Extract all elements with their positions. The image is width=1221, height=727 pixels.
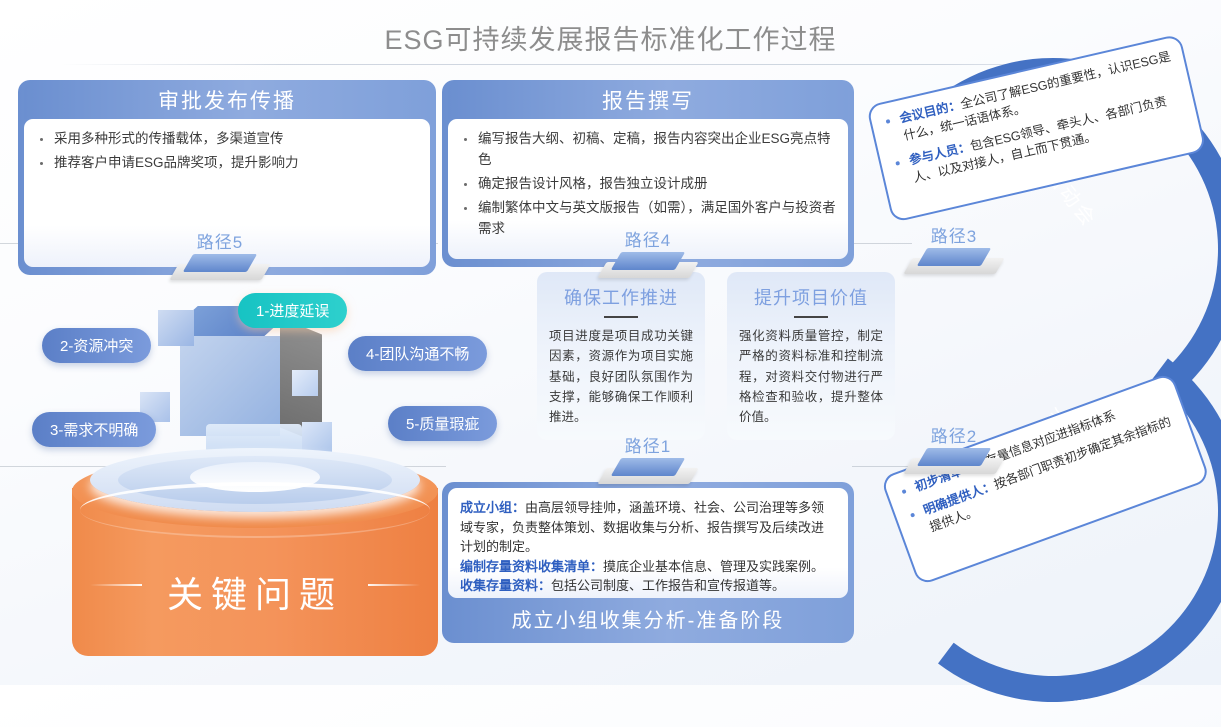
cylinder-highlight-ring [80,482,430,538]
panel-report-header: 报告撰写 [448,80,848,119]
path-label-3: 路径3 [898,222,1010,247]
panel-prep-body: 成立小组：由高层领导挂帅，涵盖环境、社会、公司治理等多领域专家，负责整体策划、数… [448,488,848,598]
cube-small-3 [292,370,318,396]
card-title: 提升项目价值 [739,284,883,310]
card-text: 强化资料质量管控，制定严格的资料标准和控制流程，对资料交付物进行严格检查和验收，… [739,326,883,427]
issue-pill-5[interactable]: 5-质量瑕疵 [388,406,497,441]
path-label-5: 路径5 [164,228,276,253]
prep-line-1: 成立小组：由高层领导挂帅，涵盖环境、社会、公司治理等多领域专家，负责整体策划、数… [460,498,836,557]
page-title: ESG可持续发展报告标准化工作过程 [0,18,1221,57]
list-item: 编写报告大纲、初稿、定稿，报告内容突出企业ESG亮点特色 [460,129,836,171]
panel-report-list: 编写报告大纲、初稿、定稿，报告内容突出企业ESG亮点特色 确定报告设计风格，报告… [460,129,836,240]
pedestal-block [917,248,991,266]
path-label-1: 路径1 [592,432,704,457]
pedestal-path-5[interactable]: 路径5 [174,248,266,288]
list-item: 采用多种形式的传播载体，多渠道宣传 [36,129,418,150]
issue-pill-1[interactable]: 1-进度延误 [238,293,347,328]
pedestal-block [611,458,685,476]
card-ensure-progress[interactable]: 确保工作推进 项目进度是项目成功关键因素，资源作为项目实施基础，良好团队氛围作为… [537,272,705,440]
title-divider [60,64,1160,65]
cube-small-1 [158,310,194,346]
card-title: 确保工作推进 [549,284,693,310]
prep-line-2: 编制存量资料收集清单：摸底企业基本信息、管理及实践案例。 [460,557,836,577]
panel-approve-header: 审批发布传播 [24,80,430,119]
issue-pill-2[interactable]: 2-资源冲突 [42,328,151,363]
path-label-2: 路径2 [898,422,1010,447]
panel-prep-footer: 成立小组收集分析-准备阶段 [448,598,848,635]
pedestal-path-1[interactable]: 路径1 [602,452,694,492]
pedestal-path-2[interactable]: 路径2 [908,442,1000,482]
prep-key-3: 收集存量资料： [460,578,551,593]
prep-text-3: 包括公司制度、工作报告和宣传报道等。 [551,578,785,593]
pedestal-block [611,252,685,270]
card-text: 项目进度是项目成功关键因素，资源作为项目实施基础，良好团队氛围作为支撑，能够确保… [549,326,693,427]
prep-key-2: 编制存量资料收集清单： [460,559,603,574]
key-issues-label: 关键问题 [72,566,438,618]
prep-text-2: 摸底企业基本信息、管理及实践案例。 [603,559,824,574]
pedestal-path-4[interactable]: 路径4 [602,246,694,286]
pedestal-block [917,448,991,466]
slide-canvas: ESG可持续发展报告标准化工作过程 资料收集启动会 形成初步资料清单 审批发布传… [0,0,1221,685]
issue-pill-3[interactable]: 3-需求不明确 [32,412,156,447]
key-issues-cylinder: 关键问题 [72,446,438,662]
pedestal-path-3[interactable]: 路径3 [908,242,1000,282]
pedestal-block [183,254,257,272]
card-divider [794,316,828,318]
card-improve-value[interactable]: 提升项目价值 强化资料质量管控，制定严格的资料标准和控制流程，对资料交付物进行严… [727,272,895,440]
panel-prep-shell: 成立小组：由高层领导挂帅，涵盖环境、社会、公司治理等多领域专家，负责整体策划、数… [442,482,854,643]
path-label-4: 路径4 [592,226,704,251]
issue-pill-4[interactable]: 4-团队沟通不畅 [348,336,487,371]
panel-approve-list: 采用多种形式的传播载体，多渠道宣传 推荐客户申请ESG品牌奖项，提升影响力 [36,129,418,174]
list-item: 确定报告设计风格，报告独立设计成册 [460,174,836,195]
card-divider [604,316,638,318]
prep-line-3: 收集存量资料：包括公司制度、工作报告和宣传报道等。 [460,576,836,596]
list-item: 推荐客户申请ESG品牌奖项，提升影响力 [36,153,418,174]
prep-key-1: 成立小组： [460,500,525,515]
panel-preparation-stage[interactable]: 成立小组：由高层领导挂帅，涵盖环境、社会、公司治理等多领域专家，负责整体策划、数… [442,482,854,643]
cube-front-face [180,336,280,436]
